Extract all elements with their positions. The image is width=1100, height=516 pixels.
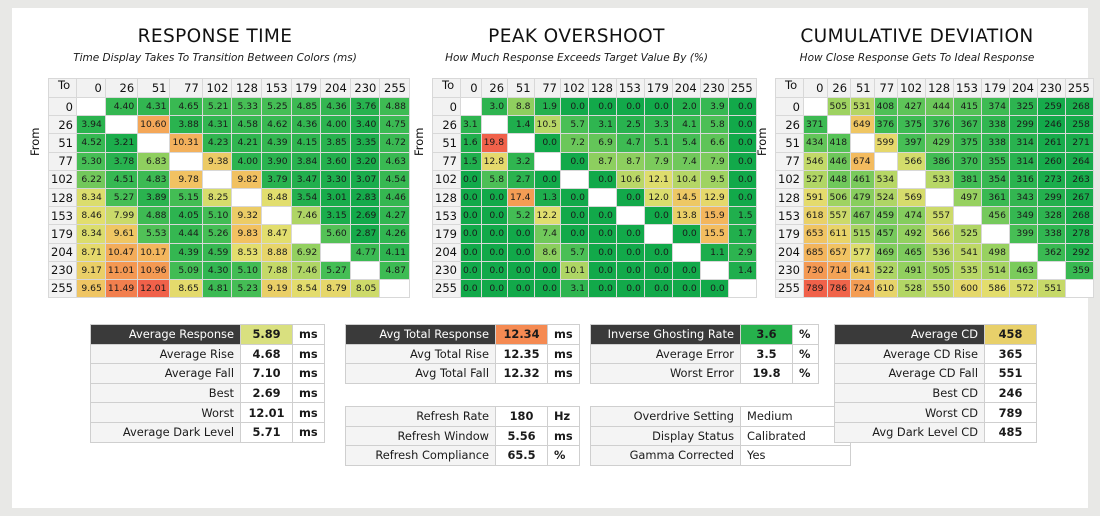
matrix-cell: 491: [898, 261, 926, 279]
matrix-cell: 15.9: [700, 207, 728, 225]
matrix-cell: 8.34: [76, 188, 105, 206]
matrix-cell: 0.0: [534, 170, 560, 188]
summary-row: Average Response5.89ms: [91, 325, 325, 345]
matrix-cell: 4.40: [105, 98, 137, 116]
summary-unit: ms: [548, 426, 580, 446]
row-header-255: 255: [49, 279, 77, 297]
matrix-cell: 1.1: [700, 243, 728, 261]
matrix-cell: 397: [898, 134, 926, 152]
matrix-cell: 5.60: [321, 225, 351, 243]
matrix-row: 04.404.314.655.215.335.254.854.363.764.8…: [49, 98, 410, 116]
matrix-row: 26371649376375376367338299246258: [776, 116, 1094, 134]
row-header-179: 179: [776, 225, 804, 243]
matrix-cell: 4.59: [202, 243, 232, 261]
summary-row: Display StatusCalibrated: [591, 426, 851, 446]
matrix-cell: 4.21: [232, 134, 262, 152]
grid-wrap-response-time: To From 026517710212815317920423025504.4…: [20, 78, 410, 298]
matrix-cell: 8.7: [616, 152, 644, 170]
summary-label: Worst Error: [591, 364, 741, 384]
matrix-cell: 8.34: [76, 225, 105, 243]
matrix-cell-diagonal: [588, 188, 616, 206]
matrix-cell: 4.88: [138, 207, 170, 225]
matrix-cell: 261: [1037, 134, 1065, 152]
matrix-cell: 7.88: [261, 261, 291, 279]
matrix-cell: 497: [954, 188, 982, 206]
matrix-cell: 4.39: [170, 243, 202, 261]
matrix-cell: 271: [1065, 134, 1093, 152]
matrix-cell: 0.0: [616, 98, 644, 116]
summary-ghosting: Inverse Ghosting Rate3.6%Average Error3.…: [590, 324, 819, 384]
matrix-cell: 5.8: [700, 116, 728, 134]
report-sheet: RESPONSE TIME Time Display Takes To Tran…: [12, 8, 1088, 508]
matrix-cell: 299: [1037, 188, 1065, 206]
row-header-255: 255: [776, 279, 804, 297]
row-header-230: 230: [49, 261, 77, 279]
matrix-cell: 611: [827, 225, 851, 243]
matrix-cell: 465: [898, 243, 926, 261]
matrix-cell: 3.3: [644, 116, 672, 134]
summary-table-cd: Average CD458Average CD Rise365Average C…: [834, 324, 1037, 443]
summary-unit: ms: [293, 383, 325, 403]
column-header-230: 230: [1037, 79, 1065, 98]
matrix-response-time: 026517710212815317920423025504.404.314.6…: [48, 78, 410, 298]
matrix-cell: 0.0: [588, 170, 616, 188]
summary-label: Average Fall: [91, 364, 241, 384]
matrix-cell: 730: [803, 261, 827, 279]
matrix-cell: 9.19: [261, 279, 291, 297]
matrix-row: 1790.00.00.07.40.00.00.00.015.51.7: [433, 225, 757, 243]
matrix-cell: 5.7: [560, 243, 588, 261]
matrix-cell: 506: [827, 188, 851, 206]
summary-unit: ms: [293, 344, 325, 364]
matrix-cell-diagonal: [803, 98, 827, 116]
matrix-cell: 3.94: [76, 116, 105, 134]
matrix-cell: 8.53: [232, 243, 262, 261]
matrix-cell: 533: [926, 170, 954, 188]
matrix-cell: 4.62: [261, 116, 291, 134]
matrix-cell: 0.0: [588, 225, 616, 243]
column-header-153: 153: [954, 79, 982, 98]
matrix-cell: 5.27: [321, 261, 351, 279]
matrix-cell: 3.01: [321, 188, 351, 206]
matrix-cell: 3.84: [291, 152, 321, 170]
matrix-cell: 1.9: [534, 98, 560, 116]
matrix-cell: 325: [1009, 98, 1037, 116]
matrix-row: 1530.00.05.212.20.00.00.013.815.91.5: [433, 207, 757, 225]
matrix-cell: 12.01: [138, 279, 170, 297]
matrix-cell: 11.01: [105, 261, 137, 279]
matrix-cell: 316: [1009, 170, 1037, 188]
matrix-cell: 7.2: [560, 134, 588, 152]
summary-row: Avg Total Response12.34ms: [346, 325, 580, 345]
summary-row: Avg Total Rise12.35ms: [346, 344, 580, 364]
matrix-cell: 361: [982, 188, 1010, 206]
matrix-cell: 3.54: [291, 188, 321, 206]
matrix-cell: 4.77: [350, 243, 380, 261]
row-header-179: 179: [49, 225, 77, 243]
matrix-cell: 10.6: [616, 170, 644, 188]
matrix-cell: 505: [827, 98, 851, 116]
matrix-cell: 4.44: [170, 225, 202, 243]
summary-total-response: Avg Total Response12.34msAvg Total Rise1…: [345, 324, 580, 384]
summary-label: Average Rise: [91, 344, 241, 364]
matrix-cell: 4.51: [105, 170, 137, 188]
row-header-77: 77: [49, 152, 77, 170]
matrix-cell-diagonal: [350, 261, 380, 279]
row-header-153: 153: [49, 207, 77, 225]
summary-value: 180: [496, 407, 548, 427]
summary-row: Worst CD789: [835, 403, 1037, 423]
matrix-cell: 8.8: [508, 98, 534, 116]
matrix-cell: 4.00: [321, 116, 351, 134]
matrix-cell: 0.0: [672, 225, 700, 243]
matrix-cell: 3.60: [321, 152, 351, 170]
matrix-cell: 299: [1009, 116, 1037, 134]
matrix-cell: 524: [874, 188, 898, 206]
axis-label-to-cumulative-deviation: To: [785, 78, 797, 92]
matrix-cell: 4.85: [291, 98, 321, 116]
matrix-row: 2559.6511.4912.018.654.815.239.198.548.7…: [49, 279, 410, 297]
row-header-51: 51: [49, 134, 77, 152]
matrix-cell: 0.0: [534, 134, 560, 152]
axis-label-to-peak-overshoot: To: [442, 78, 454, 92]
matrix-cell: 19.8: [481, 134, 507, 152]
summary-row: Average Error3.5%: [591, 344, 819, 364]
panel-subtitle-response-time: Time Display Takes To Transition Between…: [20, 52, 410, 64]
matrix-cell: 354: [982, 170, 1010, 188]
matrix-cell: 9.78: [170, 170, 202, 188]
matrix-cell: 522: [874, 261, 898, 279]
grid-wrap-cumulative-deviation: To From 02651771021281531792042302550505…: [747, 78, 1087, 298]
matrix-cell: 7.4: [534, 225, 560, 243]
matrix-cell: 7.46: [291, 207, 321, 225]
matrix-cell: 5.1: [644, 134, 672, 152]
matrix-cell: 5.7: [560, 116, 588, 134]
matrix-row: 2040.00.00.08.65.70.00.00.01.12.9: [433, 243, 757, 261]
matrix-cell: 9.32: [232, 207, 262, 225]
matrix-row: 230730714641522491505535514463359: [776, 261, 1094, 279]
matrix-cell: 15.5: [700, 225, 728, 243]
matrix-cell: 3.1: [588, 116, 616, 134]
panel-peak-overshoot: PEAK OVERSHOOT How Much Response Exceeds…: [404, 26, 749, 298]
matrix-cell: 0.0: [508, 243, 534, 261]
matrix-cell-diagonal: [982, 225, 1010, 243]
matrix-cell: 4.39: [261, 134, 291, 152]
matrix-cell-diagonal: [291, 225, 321, 243]
column-header-26: 26: [481, 79, 507, 98]
matrix-cell: 9.83: [232, 225, 262, 243]
matrix-cell: 355: [982, 152, 1010, 170]
matrix-row: 771.512.83.20.08.78.77.97.47.90.0: [433, 152, 757, 170]
summary-unit: ms: [548, 344, 580, 364]
matrix-row: 03.08.81.90.00.00.00.02.03.90.0: [433, 98, 757, 116]
matrix-cell: 0.0: [616, 188, 644, 206]
column-header-77: 77: [170, 79, 202, 98]
matrix-cell: 0.0: [700, 279, 728, 297]
matrix-cell: 0.0: [588, 207, 616, 225]
matrix-cell: 514: [982, 261, 1010, 279]
matrix-cell: 3.15: [321, 207, 351, 225]
row-header-153: 153: [433, 207, 461, 225]
summary-unit: %: [793, 344, 819, 364]
summary-label: Avg Dark Level CD: [835, 422, 985, 442]
matrix-row: 1026.224.514.839.789.823.793.473.303.074…: [49, 170, 410, 188]
column-header-77: 77: [874, 79, 898, 98]
summary-value: 551: [985, 364, 1037, 384]
matrix-cell: 12.8: [481, 152, 507, 170]
matrix-cell: 17.4: [508, 188, 534, 206]
matrix-row: 514.523.2110.314.234.214.394.153.853.354…: [49, 134, 410, 152]
matrix-cell: 4.36: [291, 116, 321, 134]
matrix-cell: 5.53: [138, 225, 170, 243]
matrix-cell: 3.0: [481, 98, 507, 116]
summary-unit: %: [793, 364, 819, 384]
matrix-cell: 527: [803, 170, 827, 188]
matrix-cell: 3.1: [460, 116, 481, 134]
summary-row: Average Rise4.68ms: [91, 344, 325, 364]
matrix-cell: 3.9: [700, 98, 728, 116]
matrix-cell: 3.2: [508, 152, 534, 170]
column-header-204: 204: [321, 79, 351, 98]
matrix-cell-diagonal: [1037, 261, 1065, 279]
summary-value: 789: [985, 403, 1037, 423]
matrix-cell: 3.90: [261, 152, 291, 170]
matrix-cell: 5.25: [261, 98, 291, 116]
matrix-cell: 0.0: [644, 243, 672, 261]
matrix-cell: 0.0: [616, 243, 644, 261]
summary-value: 3.6: [741, 325, 793, 345]
summary-row: Average CD Fall551: [835, 364, 1037, 384]
column-header-255: 255: [1065, 79, 1093, 98]
row-header-255: 255: [433, 279, 461, 297]
summary-row: Average Fall7.10ms: [91, 364, 325, 384]
matrix-cell: 0.0: [644, 261, 672, 279]
matrix-row: 1020.05.82.70.00.010.612.110.49.50.0: [433, 170, 757, 188]
row-header-204: 204: [433, 243, 461, 261]
matrix-cell: 674: [851, 152, 875, 170]
matrix-cell: 8.47: [261, 225, 291, 243]
matrix-cell: 292: [1065, 243, 1093, 261]
matrix-cell: 535: [954, 261, 982, 279]
summary-unit: %: [793, 325, 819, 345]
matrix-cell: 0.0: [560, 225, 588, 243]
matrix-cell: 0.0: [644, 207, 672, 225]
summary-value: 12.01: [241, 403, 293, 423]
matrix-cell: 6.9: [588, 134, 616, 152]
column-header-26: 26: [827, 79, 851, 98]
matrix-peak-overshoot: 026517710212815317920423025503.08.81.90.…: [432, 78, 757, 298]
matrix-cell-diagonal: [481, 116, 507, 134]
column-header-230: 230: [350, 79, 380, 98]
summary-value: 19.8: [741, 364, 793, 384]
matrix-cell: 649: [851, 116, 875, 134]
summary-row: Overdrive SettingMedium: [591, 407, 851, 427]
matrix-cell: 8.25: [202, 188, 232, 206]
matrix-cell-diagonal: [898, 170, 926, 188]
matrix-cell: 10.60: [138, 116, 170, 134]
summary-label: Inverse Ghosting Rate: [591, 325, 741, 345]
axis-label-from-response-time: From: [28, 128, 42, 157]
column-header-26: 26: [105, 79, 137, 98]
matrix-cell-diagonal: [76, 98, 105, 116]
matrix-cell-diagonal: [827, 116, 851, 134]
matrix-cell: 278: [1065, 225, 1093, 243]
matrix-row: 0505531408427444415374325259268: [776, 98, 1094, 116]
matrix-cell: 685: [803, 243, 827, 261]
axis-label-from-cumulative-deviation: From: [755, 128, 769, 157]
axis-label-to-response-time: To: [58, 78, 70, 92]
summary-value: 5.89: [241, 325, 293, 345]
matrix-cell: 4.83: [138, 170, 170, 188]
column-header-153: 153: [261, 79, 291, 98]
summary-label: Gamma Corrected: [591, 446, 741, 466]
summary-refresh: Refresh Rate180HzRefresh Window5.56msRef…: [345, 406, 580, 466]
matrix-cell: 505: [926, 261, 954, 279]
summary-label: Display Status: [591, 426, 741, 446]
summary-unit: ms: [293, 403, 325, 423]
matrix-cell: 268: [1065, 207, 1093, 225]
column-header-179: 179: [644, 79, 672, 98]
matrix-cell: 10.17: [138, 243, 170, 261]
matrix-cell: 724: [851, 279, 875, 297]
summary-unit: ms: [293, 364, 325, 384]
panel-title-response-time: RESPONSE TIME: [20, 26, 410, 47]
summary-response: Average Response5.89msAverage Rise4.68ms…: [90, 324, 325, 443]
matrix-cell-diagonal: [138, 134, 170, 152]
matrix-cell: 2.0: [672, 98, 700, 116]
matrix-row: 263.11.410.55.73.12.53.34.15.80.0: [433, 116, 757, 134]
matrix-cell: 260: [1037, 152, 1065, 170]
matrix-cell: 3.76: [350, 98, 380, 116]
matrix-cell: 0.0: [616, 225, 644, 243]
summary-label: Worst: [91, 403, 241, 423]
matrix-cell: 566: [898, 152, 926, 170]
matrix-cell: 268: [1065, 98, 1093, 116]
matrix-cell: 246: [1037, 116, 1065, 134]
summary-label: Avg Total Response: [346, 325, 496, 345]
matrix-cell: 314: [1009, 134, 1037, 152]
matrix-cell: 0.0: [560, 98, 588, 116]
summary-value: 458: [985, 325, 1037, 345]
column-header-51: 51: [851, 79, 875, 98]
matrix-cell: 600: [954, 279, 982, 297]
matrix-cell-diagonal: [232, 188, 262, 206]
summary-label: Avg Total Rise: [346, 344, 496, 364]
matrix-cell: 8.6: [534, 243, 560, 261]
matrix-cell: 0.0: [588, 261, 616, 279]
matrix-cell: 3.78: [105, 152, 137, 170]
column-header-204: 204: [672, 79, 700, 98]
summary-table-ghosting: Inverse Ghosting Rate3.6%Average Error3.…: [590, 324, 819, 384]
matrix-cell: 0.0: [534, 279, 560, 297]
matrix-cell: 0.0: [460, 207, 481, 225]
summary-tables: Average Response5.89msAverage Rise4.68ms…: [12, 320, 1088, 506]
matrix-cell: 273: [1037, 170, 1065, 188]
matrix-row: 77546446674566386370355314260264: [776, 152, 1094, 170]
matrix-cell-diagonal: [534, 152, 560, 170]
matrix-cell: 4.58: [232, 116, 262, 134]
row-header-102: 102: [49, 170, 77, 188]
summary-row: Worst12.01ms: [91, 403, 325, 423]
matrix-cell-diagonal: [954, 207, 982, 225]
matrix-cell: 4.65: [170, 98, 202, 116]
row-header-0: 0: [433, 98, 461, 116]
summary-row: Avg Total Fall12.32ms: [346, 364, 580, 384]
matrix-row: 2309.1711.0110.965.094.305.107.887.465.2…: [49, 261, 410, 279]
summary-unit: ms: [293, 422, 325, 442]
matrix-cell: 463: [1009, 261, 1037, 279]
matrix-cell: 0.0: [672, 261, 700, 279]
matrix-cell: 0.0: [481, 279, 507, 297]
column-header-77: 77: [534, 79, 560, 98]
row-header-230: 230: [433, 261, 461, 279]
summary-text-value: Yes: [741, 446, 851, 466]
row-header-51: 51: [776, 134, 804, 152]
matrix-cell: 1.5: [460, 152, 481, 170]
matrix-row: 2300.00.00.00.010.10.00.00.00.01.4: [433, 261, 757, 279]
matrix-cell: 4.23: [202, 134, 232, 152]
summary-row: Average Dark Level5.71ms: [91, 422, 325, 442]
matrix-cell: 0.0: [588, 279, 616, 297]
summary-label: Average Dark Level: [91, 422, 241, 442]
row-header-102: 102: [433, 170, 461, 188]
matrix-cell: 13.8: [672, 207, 700, 225]
row-header-204: 204: [776, 243, 804, 261]
matrix-cell: 0.0: [616, 279, 644, 297]
matrix-cell-diagonal: [616, 207, 644, 225]
matrix-cell: 12.9: [700, 188, 728, 206]
matrix-cell: 557: [926, 207, 954, 225]
matrix-cell: 0.0: [481, 188, 507, 206]
matrix-cell: 6.92: [291, 243, 321, 261]
matrix-cell: 370: [954, 152, 982, 170]
summary-label: Average CD Rise: [835, 344, 985, 364]
matrix-cell: 0.0: [481, 225, 507, 243]
summary-display: Overdrive SettingMediumDisplay StatusCal…: [590, 406, 851, 466]
summary-row: Refresh Rate180Hz: [346, 407, 580, 427]
summary-row: Average CD Rise365: [835, 344, 1037, 364]
column-header-179: 179: [291, 79, 321, 98]
matrix-cell: 0.0: [672, 279, 700, 297]
matrix-cell: 367: [954, 116, 982, 134]
matrix-cell: 349: [1009, 207, 1037, 225]
matrix-cell: 456: [982, 207, 1010, 225]
screenshot-root: RESPONSE TIME Time Display Takes To Tran…: [0, 0, 1100, 516]
matrix-cell: 1.3: [534, 188, 560, 206]
summary-label: Average CD Fall: [835, 364, 985, 384]
summary-label: Avg Total Fall: [346, 364, 496, 384]
matrix-row: 2550.00.00.00.03.10.00.00.00.00.0: [433, 279, 757, 297]
matrix-cell-diagonal: [261, 207, 291, 225]
matrix-cell: 0.0: [588, 98, 616, 116]
column-header-0: 0: [803, 79, 827, 98]
matrix-cell: 375: [954, 134, 982, 152]
matrix-cell: 429: [926, 134, 954, 152]
matrix-cell: 14.5: [672, 188, 700, 206]
matrix-row: 1288.345.273.895.158.258.483.543.012.834…: [49, 188, 410, 206]
matrix-cell: 469: [874, 243, 898, 261]
matrix-cell: 399: [1009, 225, 1037, 243]
matrix-cell: 536: [926, 243, 954, 261]
summary-value: 2.69: [241, 383, 293, 403]
column-header-230: 230: [700, 79, 728, 98]
matrix-cell: 9.38: [202, 152, 232, 170]
matrix-cell: 515: [851, 225, 875, 243]
summary-value: 5.71: [241, 422, 293, 442]
summary-unit: ms: [548, 325, 580, 345]
matrix-cell: 2.83: [350, 188, 380, 206]
matrix-cell: 461: [851, 170, 875, 188]
